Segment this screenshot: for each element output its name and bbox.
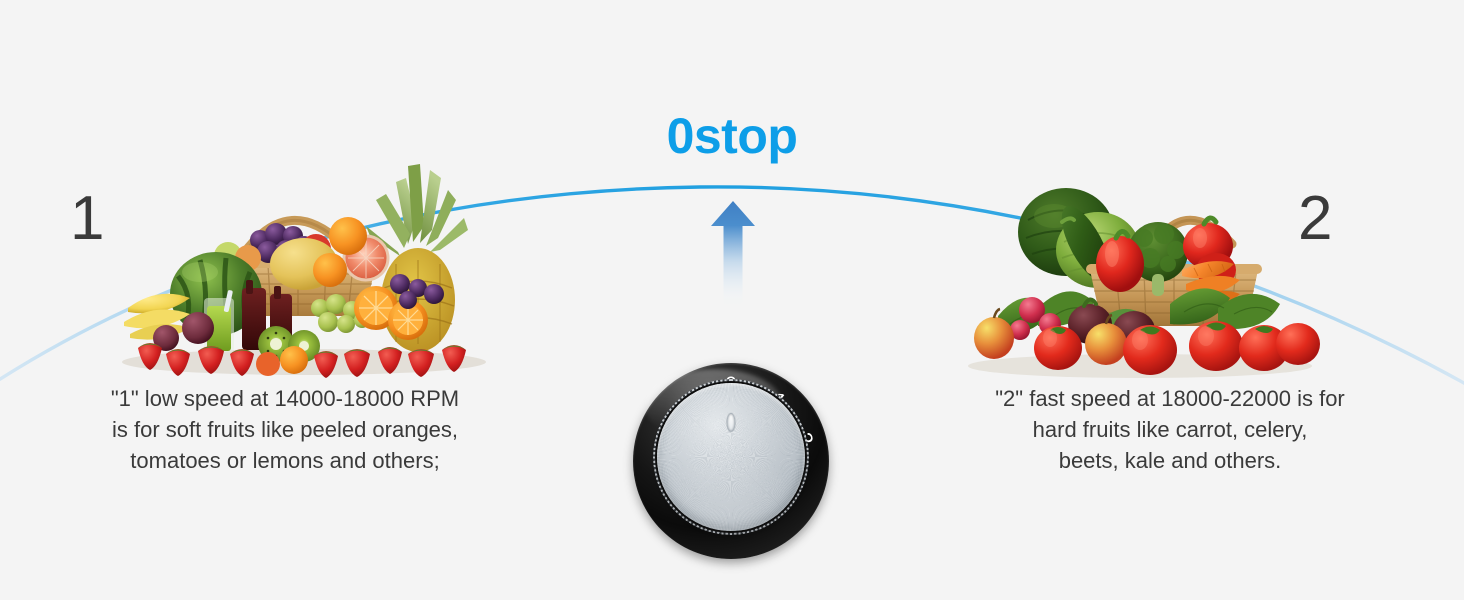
speed-label-1: 1 — [70, 188, 104, 250]
caption-speed-2: "2" fast speed at 18000-22000 is for har… — [925, 383, 1415, 476]
fruit-assortment-photo — [108, 148, 494, 380]
up-arrow-icon — [711, 201, 755, 312]
plum — [182, 312, 214, 344]
speed-control-knob[interactable]: 0 1 2 — [633, 363, 833, 563]
knob-pointer-indicator — [727, 413, 736, 432]
caption-speed-1: "1" low speed at 14000-18000 RPM is for … — [40, 383, 530, 476]
tangerine — [313, 253, 347, 287]
vegetable-assortment-photo — [958, 158, 1322, 380]
tangerine — [256, 352, 280, 376]
knob-dial-face[interactable] — [657, 383, 805, 531]
infographic-canvas: 0stop 1 2 — [0, 0, 1464, 600]
tangerine — [280, 346, 308, 374]
orange — [329, 217, 367, 255]
